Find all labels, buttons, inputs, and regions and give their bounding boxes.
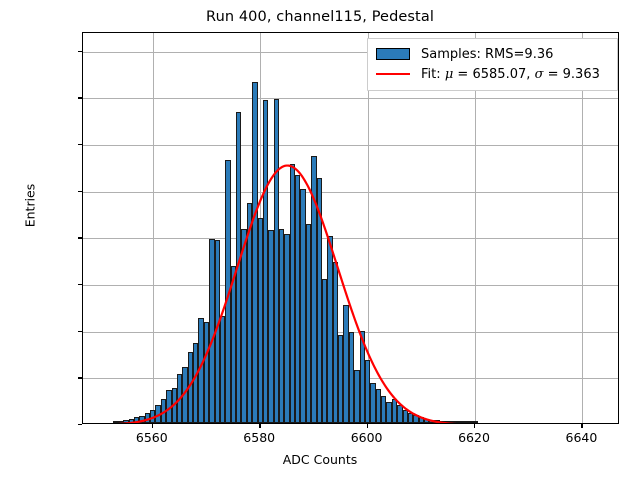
x-tick-label: 6580 [243,430,275,445]
legend-label-samples: Samples: RMS=9.36 [421,47,553,62]
legend-label-fit: Fit: μ = 6585.07, σ = 9.363 [421,67,600,82]
fit-curve-line [83,166,523,423]
y-tick-mark [78,377,82,378]
x-axis-label: ADC Counts [0,452,640,467]
y-tick-mark [78,144,82,145]
legend-item-samples: Samples: RMS=9.36 [376,44,609,64]
y-tick-mark [78,237,82,238]
y-tick-mark [78,51,82,52]
x-tick-mark [259,424,260,428]
x-tick-mark [367,424,368,428]
y-tick-mark [78,284,82,285]
legend-item-fit: Fit: μ = 6585.07, σ = 9.363 [376,64,609,84]
x-tick-label: 6640 [566,430,598,445]
y-tick-mark [78,97,82,98]
gaussian-fit-curve [83,33,618,423]
y-tick-mark [78,424,82,425]
x-tick-label: 6620 [458,430,490,445]
x-tick-mark [581,424,582,428]
y-axis-label: Entries [23,146,38,266]
page-title: Run 400, channel115, Pedestal [0,9,640,25]
x-tick-mark [152,424,153,428]
x-tick-label: 6600 [351,430,383,445]
chart-figure: Run 400, channel115, Pedestal Entries AD… [0,0,640,480]
y-tick-mark [78,331,82,332]
fit-curve-svg [83,33,618,423]
y-tick-mark [78,191,82,192]
chart-legend: Samples: RMS=9.36 Fit: μ = 6585.07, σ = … [367,38,618,91]
legend-line-icon [376,73,410,75]
x-tick-mark [474,424,475,428]
legend-patch-icon [376,48,410,60]
x-tick-label: 6560 [136,430,168,445]
